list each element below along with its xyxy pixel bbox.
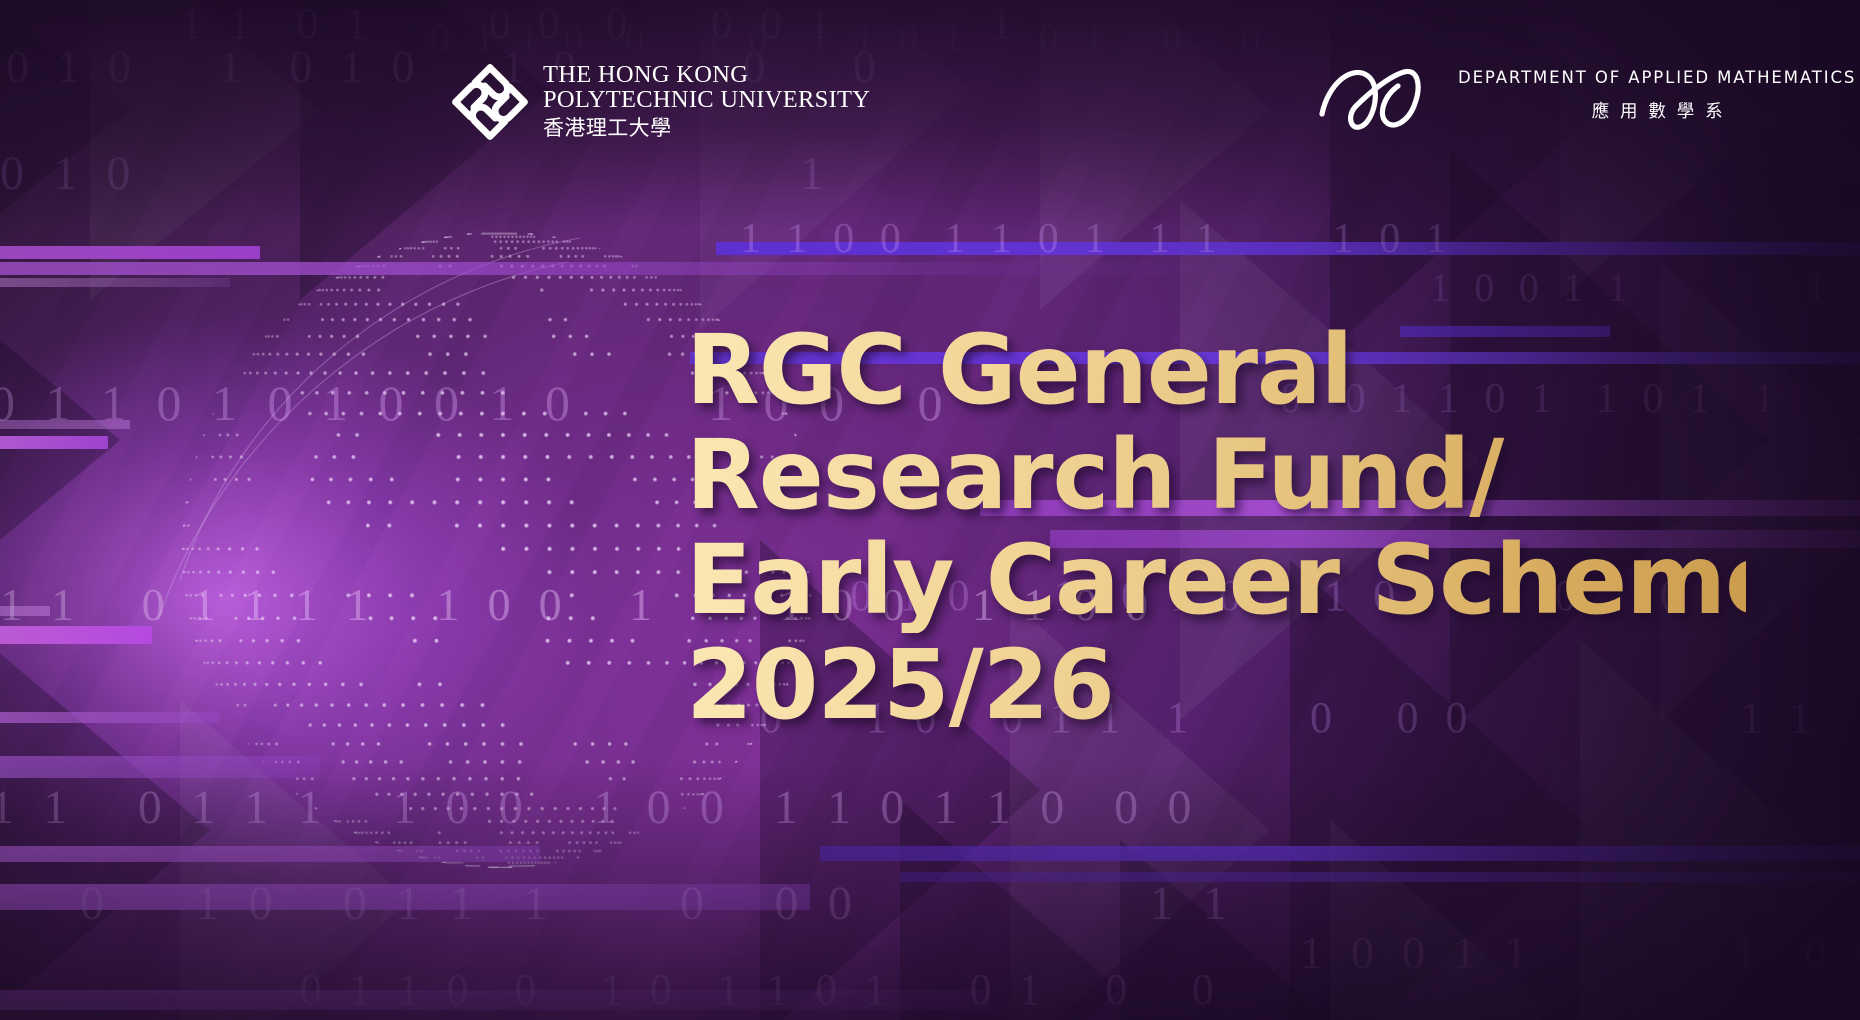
department-name-zh: 應用數學系 <box>1581 98 1734 123</box>
applied-math-wave-icon <box>1318 56 1442 134</box>
polyu-name-en-line1: THE HONG KONG <box>543 62 870 87</box>
headline-block: RGC General Research Fund/ Early Career … <box>686 318 1746 738</box>
headline-line-2: Research Fund/ <box>686 423 1746 528</box>
polyu-knot-icon <box>452 64 528 140</box>
department-wordmark: DEPARTMENT OF APPLIED MATHEMATICS 應用數學系 <box>1458 68 1856 123</box>
headline-line-3: Early Career Scheme <box>686 528 1746 633</box>
polyu-wordmark: THE HONG KONG POLYTECHNIC UNIVERSITY 香港理… <box>543 62 870 141</box>
polyu-logo[interactable]: THE HONG KONG POLYTECHNIC UNIVERSITY 香港理… <box>452 62 870 141</box>
banner-root: 1 1 0 1 0 0 0 0 0 1 1 0 1 1 0 0 1 0 1 1 … <box>0 0 1860 1020</box>
headline-line-4: 2025/26 <box>686 633 1746 738</box>
headline-line-1: RGC General <box>686 318 1746 423</box>
polyu-name-en-line2: POLYTECHNIC UNIVERSITY <box>543 87 870 112</box>
department-logo[interactable]: DEPARTMENT OF APPLIED MATHEMATICS 應用數學系 <box>1318 56 1856 134</box>
department-name-en: DEPARTMENT OF APPLIED MATHEMATICS <box>1458 68 1856 87</box>
polyu-name-zh: 香港理工大學 <box>543 115 870 141</box>
